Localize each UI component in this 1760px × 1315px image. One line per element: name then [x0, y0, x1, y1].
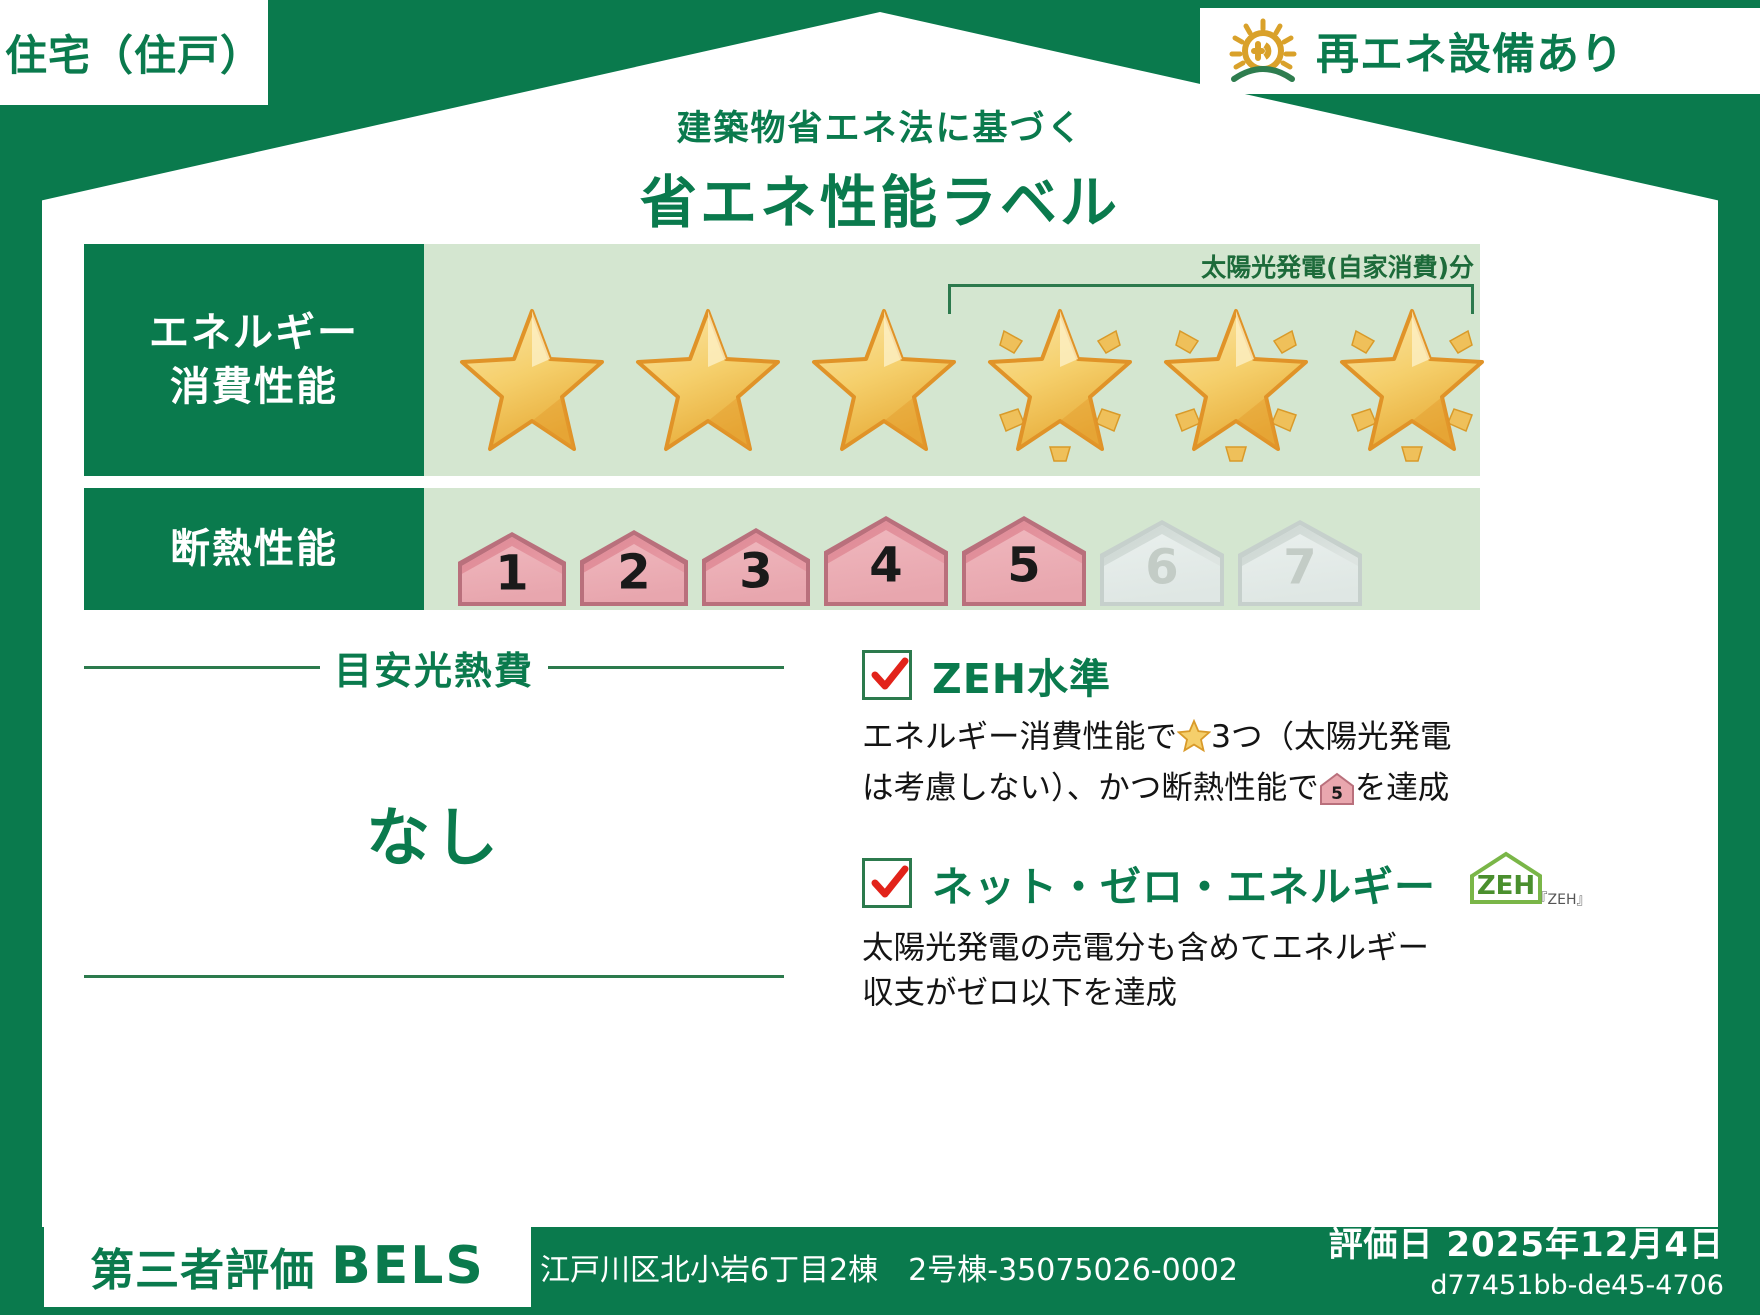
star-solar: [974, 297, 1146, 465]
svg-text:『ZEH』: 『ZEH』: [1534, 892, 1584, 908]
svg-text:5: 5: [1331, 784, 1343, 804]
star-filled: [622, 297, 794, 465]
evaluation-meta: 評価日 2025年12月4日 d77451bb-de45-4706: [1329, 1217, 1724, 1301]
svg-text:ZEH: ZEH: [1477, 871, 1535, 901]
solar-note-label: 太陽光発電(自家消費)分: [1201, 248, 1474, 284]
net-zero-energy-checkbox[interactable]: [862, 858, 912, 908]
insulation-level-2: 2: [574, 526, 694, 610]
insulation-level-6: 6: [1094, 516, 1230, 610]
insulation-level-number: 5: [956, 538, 1092, 594]
star-solar: [1326, 297, 1498, 465]
insulation-level-1: 1: [452, 528, 572, 610]
zeh-desc-line2-a: は考慮しない）、かつ断熱性能で: [862, 770, 1319, 806]
insulation-level-number: 1: [452, 546, 572, 602]
category-chip: 住宅（住戸）: [0, 0, 268, 105]
net-zero-energy-title: ネット・ゼロ・エネルギー: [932, 853, 1436, 913]
title-subtitle: 建築物省エネ法に基づく: [0, 100, 1760, 151]
footer-bar: 第三者評価 BELS 江戸川区北小岩6丁目2棟 2号棟-35075026-000…: [0, 1215, 1760, 1315]
evaluation-uid: d77451bb-de45-4706: [1329, 1270, 1724, 1301]
insulation-level-7: 7: [1232, 516, 1368, 610]
check-icon: [869, 863, 911, 905]
heading-rule-right: [548, 666, 784, 669]
energy-performance-label: エネルギー 消費性能: [84, 244, 424, 476]
zeh-standard-description: エネルギー消費性能で 3つ（太陽光発電 は考慮しない）、かつ断熱性能で 5 を達…: [862, 715, 1502, 818]
performance-rows: エネルギー 消費性能 太陽光発電(自家消費)分: [84, 244, 1480, 610]
heading-rule-left: [84, 666, 320, 669]
property-address: 江戸川区北小岩6丁目2棟 2号棟-35075026-0002: [540, 1245, 1238, 1289]
insulation-level-number: 3: [696, 544, 816, 600]
insulation-performance-body: 1 2: [424, 488, 1480, 610]
check-icon: [869, 655, 911, 697]
evaluation-date: 評価日 2025年12月4日: [1329, 1217, 1724, 1266]
energy-label-line2: 消費性能: [170, 360, 338, 414]
zeh-desc-line1-a: エネルギー消費性能で: [862, 719, 1177, 755]
utility-cost-heading: 目安光熱費: [84, 640, 784, 695]
zeh-block: ZEH水準 エネルギー消費性能で 3つ（太陽光発電 は考慮しない）、かつ断熱性能…: [862, 645, 1502, 1016]
insulation-level-5: 5: [956, 512, 1092, 610]
energy-label-line1: エネルギー: [149, 306, 359, 360]
zeh-desc-line1-b: 3つ（太陽光発電: [1211, 719, 1452, 755]
net-zero-energy-row: ネット・ゼロ・エネルギー ZEH 『ZEH』: [862, 850, 1502, 916]
title-main: 省エネ性能ラベル: [0, 157, 1760, 239]
insulation-level-scale: 1 2: [452, 488, 1480, 610]
insulation-label-text: 断熱性能: [170, 522, 338, 576]
third-party-label: 第三者評価: [90, 1234, 315, 1298]
energy-performance-row: エネルギー 消費性能 太陽光発電(自家消費)分: [84, 244, 1480, 476]
insulation-performance-label: 断熱性能: [84, 488, 424, 610]
renewable-badge-label: 再エネ設備あり: [1316, 20, 1624, 82]
net-zero-energy-description: 太陽光発電の売電分も含めてエネルギー 収支がゼロ以下を達成: [862, 926, 1502, 1015]
insulation-level-number: 2: [574, 545, 694, 601]
bels-label: BELS: [331, 1236, 485, 1296]
insulation-level-3: 3: [696, 524, 816, 610]
zeh-standard-checkbox[interactable]: [862, 650, 912, 700]
inline-house-badge-icon: 5: [1319, 772, 1355, 819]
solar-sun-icon: [1224, 17, 1302, 85]
zeh-standard-title: ZEH水準: [932, 645, 1111, 705]
zeh-logo-icon: ZEH 『ZEH』: [1466, 850, 1584, 916]
nze-desc-line2: 収支がゼロ以下を達成: [862, 975, 1177, 1011]
zeh-standard-row: ZEH水準: [862, 645, 1502, 705]
bels-chip: 第三者評価 BELS: [44, 1225, 531, 1307]
insulation-level-number: 7: [1232, 540, 1368, 596]
label-title: 建築物省エネ法に基づく 省エネ性能ラベル: [0, 100, 1760, 239]
utility-cost-label: 目安光熱費: [334, 640, 534, 695]
zeh-desc-line2-b: を達成: [1355, 770, 1450, 806]
nze-desc-line1: 太陽光発電の売電分も含めてエネルギー: [862, 930, 1429, 966]
utility-cost-bottom-rule: [84, 975, 784, 978]
renewable-energy-badge: 再エネ設備あり: [1200, 8, 1760, 94]
energy-performance-body: 太陽光発電(自家消費)分: [424, 244, 1480, 476]
utility-cost-value: なし: [84, 787, 784, 879]
category-chip-label: 住宅（住戸）: [5, 22, 263, 83]
insulation-performance-row: 断熱性能 1: [84, 488, 1480, 610]
inline-star-icon: [1177, 719, 1211, 766]
star-rating: [446, 292, 1470, 470]
insulation-level-number: 6: [1094, 540, 1230, 596]
insulation-level-number: 4: [818, 538, 954, 594]
utility-cost-block: 目安光熱費 なし: [84, 640, 784, 978]
star-filled: [446, 297, 618, 465]
star-filled: [798, 297, 970, 465]
star-solar: [1150, 297, 1322, 465]
bels-label-root: 住宅（住戸） 再エ: [0, 0, 1760, 1315]
insulation-level-4: 4: [818, 512, 954, 610]
